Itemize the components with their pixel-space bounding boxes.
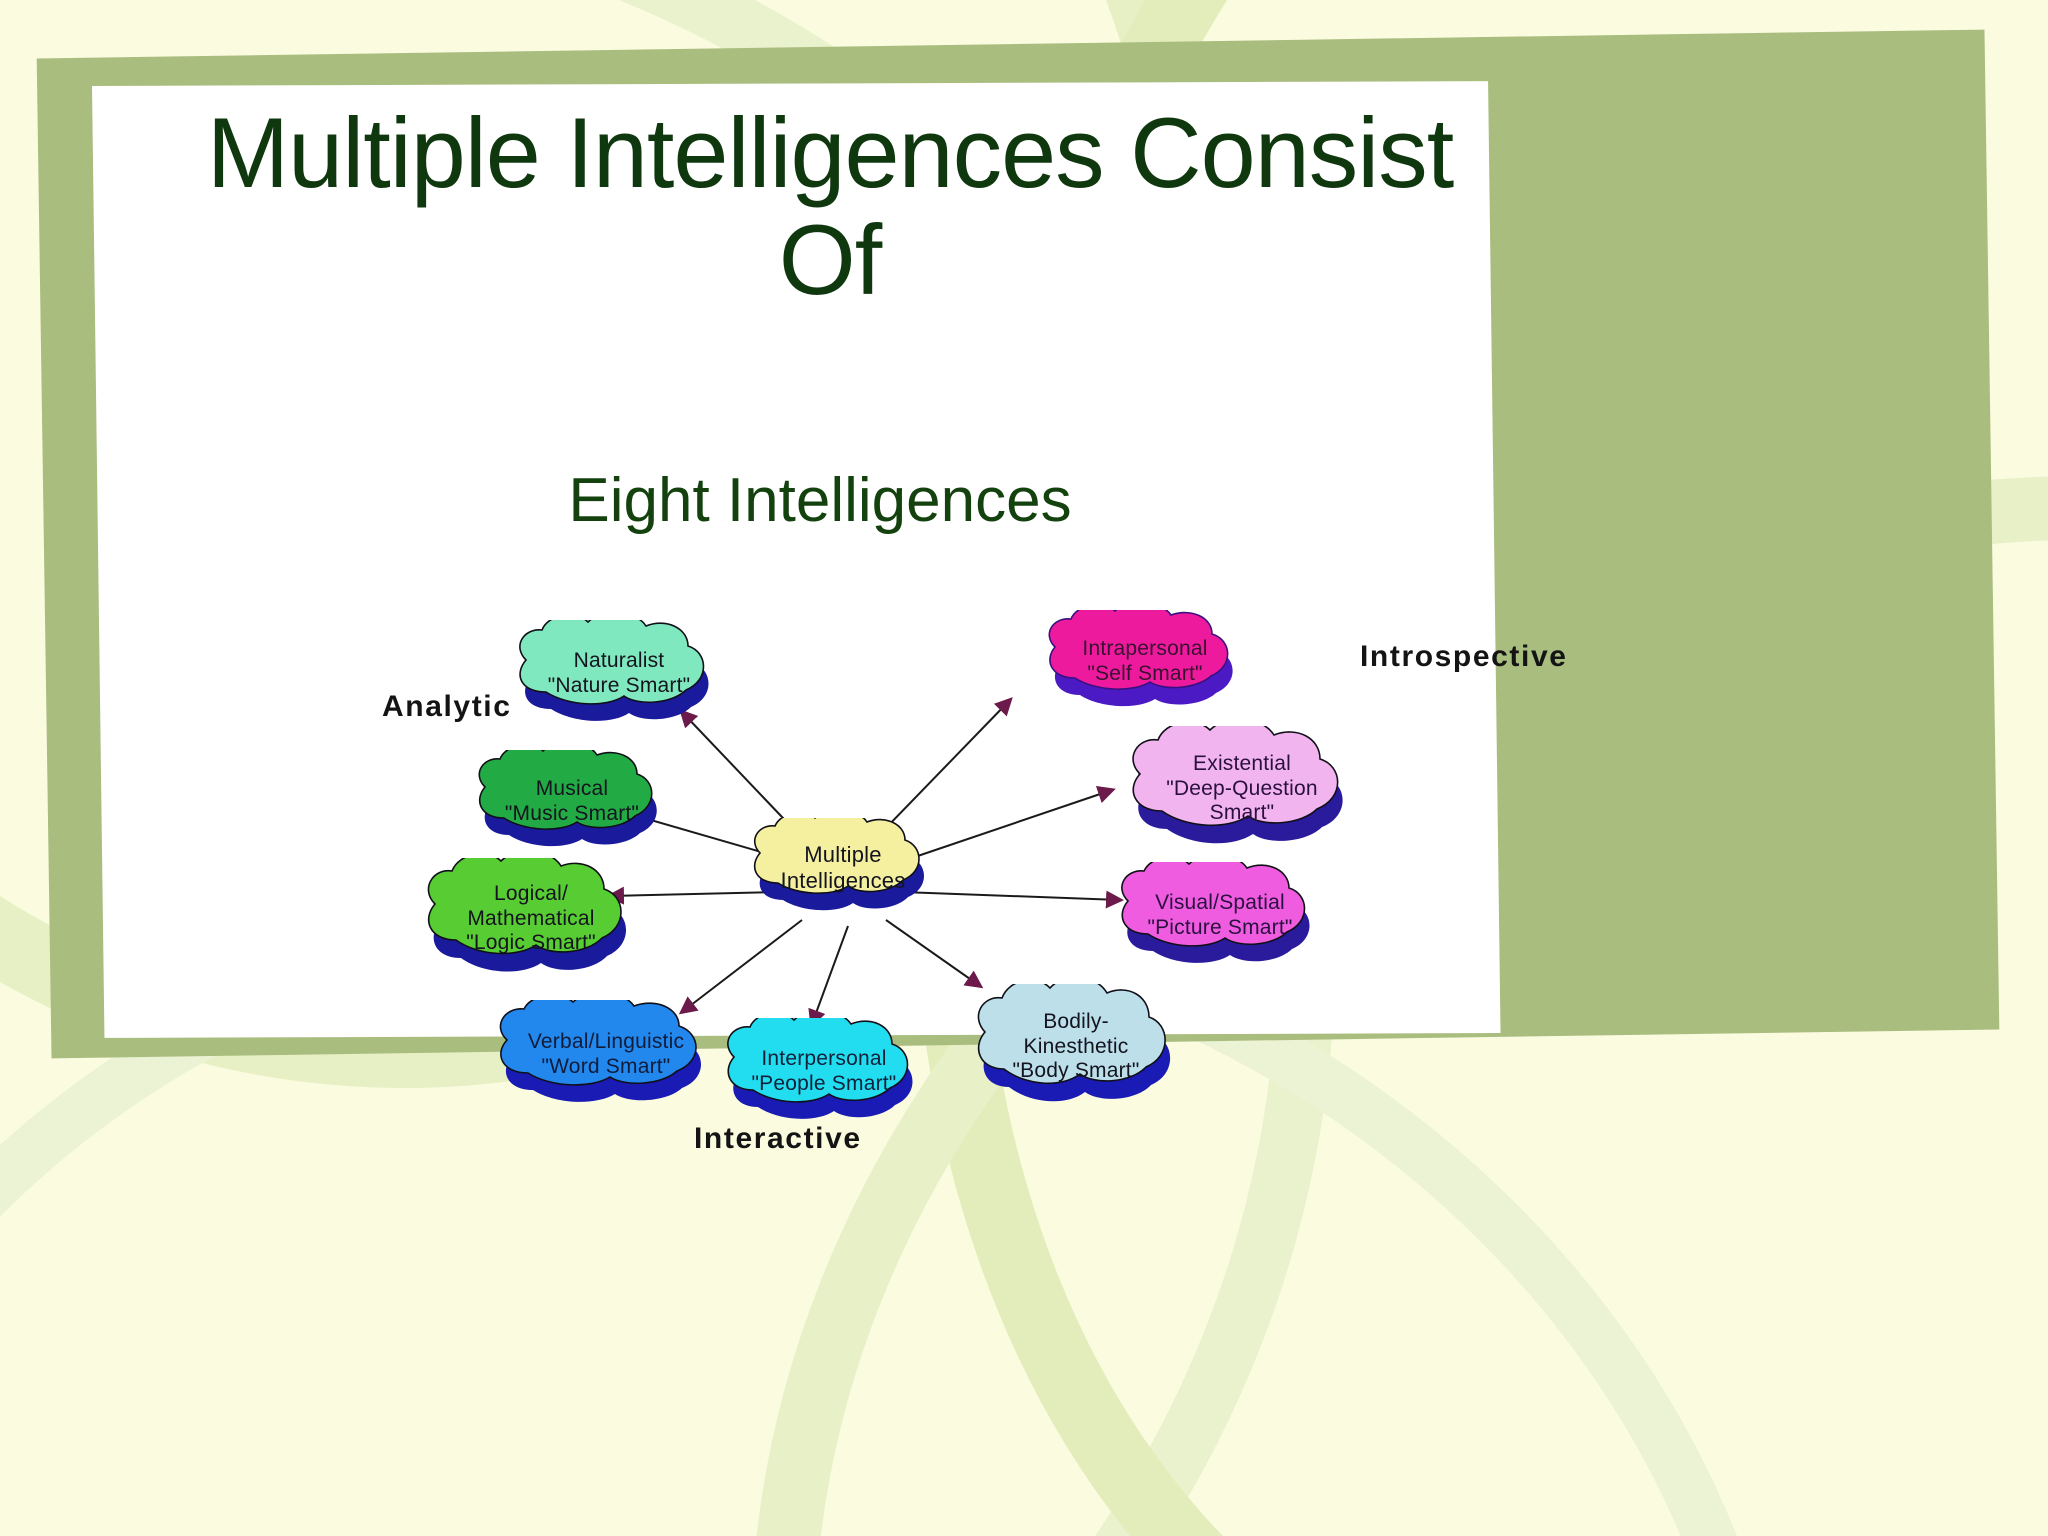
group-label-analytic: Analytic [382, 690, 512, 724]
cloud-musical[interactable]: Musical "Music Smart" [472, 750, 672, 854]
cloud-label-verbal-linguistic: Verbal/Linguistic "Word Smart" [522, 1030, 690, 1080]
arrow-to-bodily-kinesthetic [886, 920, 980, 986]
cloud-bodily-kinesthetic[interactable]: Bodily- Kinesthetic "Body Smart" [970, 984, 1182, 1110]
cloud-label-musical: Musical "Music Smart" [499, 777, 645, 827]
arrow-to-intrapersonal [882, 700, 1010, 832]
cloud-label-intrapersonal: Intrapersonal "Self Smart" [1076, 637, 1213, 687]
cloud-interpersonal[interactable]: Interpersonal "People Smart" [720, 1018, 928, 1126]
cloud-label-logical-mathematical: Logical/ Mathematical "Logic Smart" [460, 882, 602, 956]
cloud-label-naturalist: Naturalist "Nature Smart" [542, 649, 697, 699]
cloud-intrapersonal[interactable]: Intrapersonal "Self Smart" [1042, 610, 1248, 714]
cloud-label-bodily-kinesthetic: Bodily- Kinesthetic "Body Smart" [1006, 1010, 1145, 1084]
group-label-interactive: Interactive [694, 1122, 862, 1156]
cloud-visual-spatial[interactable]: Visual/Spatial "Picture Smart" [1114, 862, 1326, 970]
arrow-to-interpersonal [812, 926, 848, 1024]
group-label-introspective: Introspective [1360, 640, 1568, 674]
slide: Multiple Intelligences Consist Of Eight … [0, 0, 2048, 1536]
page-title: Multiple Intelligences Consist Of [150, 100, 1510, 314]
cloud-existential[interactable]: Existential "Deep-Question Smart" [1124, 726, 1360, 852]
cloud-verbal-linguistic[interactable]: Verbal/Linguistic "Word Smart" [492, 1000, 720, 1110]
cloud-naturalist[interactable]: Naturalist "Nature Smart" [512, 620, 726, 728]
cloud-label-existential: Existential "Deep-Question Smart" [1160, 752, 1324, 826]
page-subtitle: Eight Intelligences [150, 465, 1490, 536]
cloud-multiple-intelligences[interactable]: Multiple Intelligences [748, 818, 938, 918]
cloud-label-visual-spatial: Visual/Spatial "Picture Smart" [1141, 891, 1298, 941]
arrow-to-verbal-linguistic [682, 920, 802, 1012]
multiple-intelligences-diagram: Analytic Introspective Interactive Natur… [430, 600, 1710, 1280]
cloud-label-interpersonal: Interpersonal "People Smart" [746, 1047, 903, 1097]
cloud-logical-mathematical[interactable]: Logical/ Mathematical "Logic Smart" [420, 858, 642, 980]
cloud-label-multiple-intelligences: Multiple Intelligences [775, 842, 912, 894]
